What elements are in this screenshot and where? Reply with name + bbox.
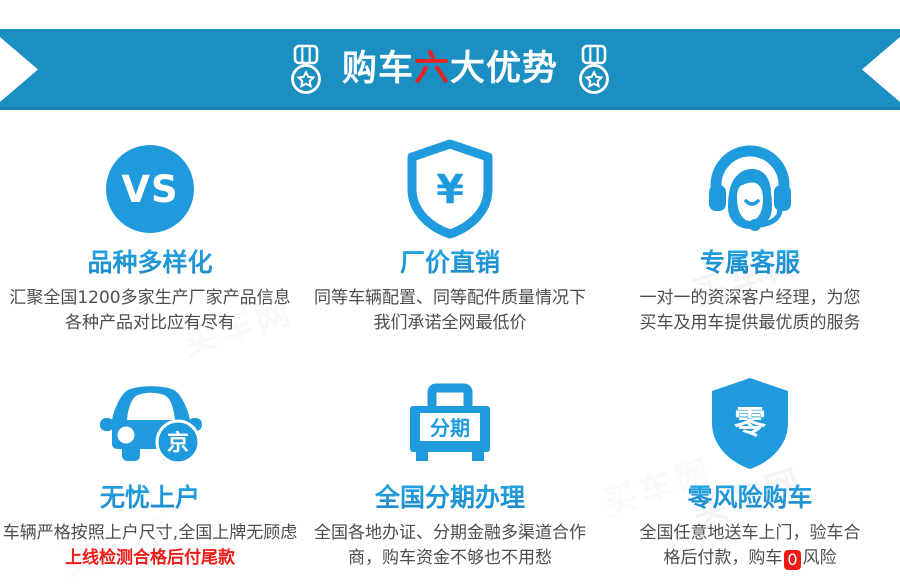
feature-icon-wrapper (700, 134, 800, 244)
header-banner: 购车六大优势 (0, 29, 900, 110)
advantages-grid: VS 品种多样化 汇聚全国1200多家生产厂家产品信息 各种产品对比应有尽有 ¥… (0, 118, 900, 588)
feature-description-line1: 车辆严格按照上户尺寸,全国上牌无顾虑 (3, 521, 297, 546)
feature-description-line1: 一对一的资深客户经理，为您 (640, 286, 861, 311)
feature-description-line2: 买车及用车提供最优质的服务 (640, 311, 861, 336)
feature-description-line2: 商，购车资金不够也不用愁 (314, 546, 586, 571)
feature-description-line2-before: 格后付款，购车 (663, 548, 782, 568)
feature-card-zero-risk: 零 零风险购车 全国任意地送车上门，验车合 格后付款，购车0风险 (600, 353, 900, 588)
zero-risk-badge: 0 (784, 550, 800, 570)
feature-description-line1: 全国任意地送车上门，验车合 (640, 521, 861, 546)
car-plate-icon: 牌 京 (94, 378, 206, 470)
banner-content: 购车六大优势 (0, 29, 900, 110)
feature-icon-wrapper: ¥ (404, 134, 496, 244)
feature-icon-wrapper: 零 (706, 369, 794, 479)
feature-icon-wrapper: 分期 (402, 369, 498, 479)
feature-card-dedicated-support: 专属客服 一对一的资深客户经理，为您 买车及用车提供最优质的服务 (600, 118, 900, 353)
feature-title: 厂价直销 (400, 248, 500, 278)
feature-description-line2: 格后付款，购车0风险 (640, 546, 861, 571)
briefcase-installment-icon: 分期 (402, 378, 498, 470)
feature-description-line1: 汇聚全国1200多家生产厂家产品信息 (9, 286, 290, 311)
vs-circle-icon: VS (106, 145, 194, 233)
feature-description-line1: 同等车辆配置、同等配件质量情况下 (314, 286, 586, 311)
feature-description-line1: 全国各地办证、分期金融多渠道合作 (314, 521, 586, 546)
feature-description: 全国各地办证、分期金融多渠道合作 商，购车资金不够也不用愁 (314, 521, 586, 570)
shield-yuan-icon: ¥ (404, 139, 496, 239)
feature-title: 全国分期办理 (375, 483, 525, 513)
car-icon-city-label: 京 (167, 430, 189, 456)
shield-zero-icon: 零 (706, 375, 794, 473)
feature-description: 全国任意地送车上门，验车合 格后付款，购车0风险 (640, 521, 861, 570)
feature-card-factory-price: ¥ 厂价直销 同等车辆配置、同等配件质量情况下 我们承诺全网最低价 (300, 118, 600, 353)
feature-icon-wrapper: 牌 京 (94, 369, 206, 479)
feature-card-installment: 分期 全国分期办理 全国各地办证、分期金融多渠道合作 商，购车资金不够也不用愁 (300, 353, 600, 588)
feature-card-variety: VS 品种多样化 汇聚全国1200多家生产厂家产品信息 各种产品对比应有尽有 (0, 118, 300, 353)
feature-description-line2-after: 风险 (803, 548, 837, 568)
medal-icon (572, 44, 616, 96)
feature-title: 无忧上户 (100, 483, 200, 513)
banner-title-prefix: 购车 (342, 49, 414, 89)
feature-title: 品种多样化 (87, 248, 212, 278)
feature-description: 汇聚全国1200多家生产厂家产品信息 各种产品对比应有尽有 (9, 286, 290, 335)
vs-icon-label: VS (121, 168, 178, 211)
feature-description-line2-highlight: 上线检测合格后付尾款 (3, 546, 297, 571)
banner-title-highlight: 六 (414, 49, 450, 89)
page-title: 购车六大优势 (342, 52, 558, 87)
feature-icon-wrapper: VS (106, 134, 194, 244)
feature-title: 专属客服 (700, 248, 800, 278)
feature-description-line2: 各种产品对比应有尽有 (9, 311, 290, 336)
headset-support-icon (700, 141, 800, 237)
zero-risk-icon-label: 零 (734, 403, 767, 441)
feature-description: 同等车辆配置、同等配件质量情况下 我们承诺全网最低价 (314, 286, 586, 335)
banner-title-suffix: 大优势 (450, 49, 558, 89)
feature-description: 车辆严格按照上户尺寸,全国上牌无顾虑 上线检测合格后付尾款 (3, 521, 297, 570)
feature-description: 一对一的资深客户经理，为您 买车及用车提供最优质的服务 (640, 286, 861, 335)
feature-title: 零风险购车 (687, 483, 812, 513)
medal-icon (284, 44, 328, 96)
feature-card-registration: 牌 京 无忧上户 车辆严格按照上户尺寸,全国上牌无顾虑 上线检测合格后付尾款 (0, 353, 300, 588)
installment-icon-label: 分期 (430, 416, 470, 440)
svg-text:¥: ¥ (436, 167, 464, 213)
feature-description-line2: 我们承诺全网最低价 (314, 311, 586, 336)
